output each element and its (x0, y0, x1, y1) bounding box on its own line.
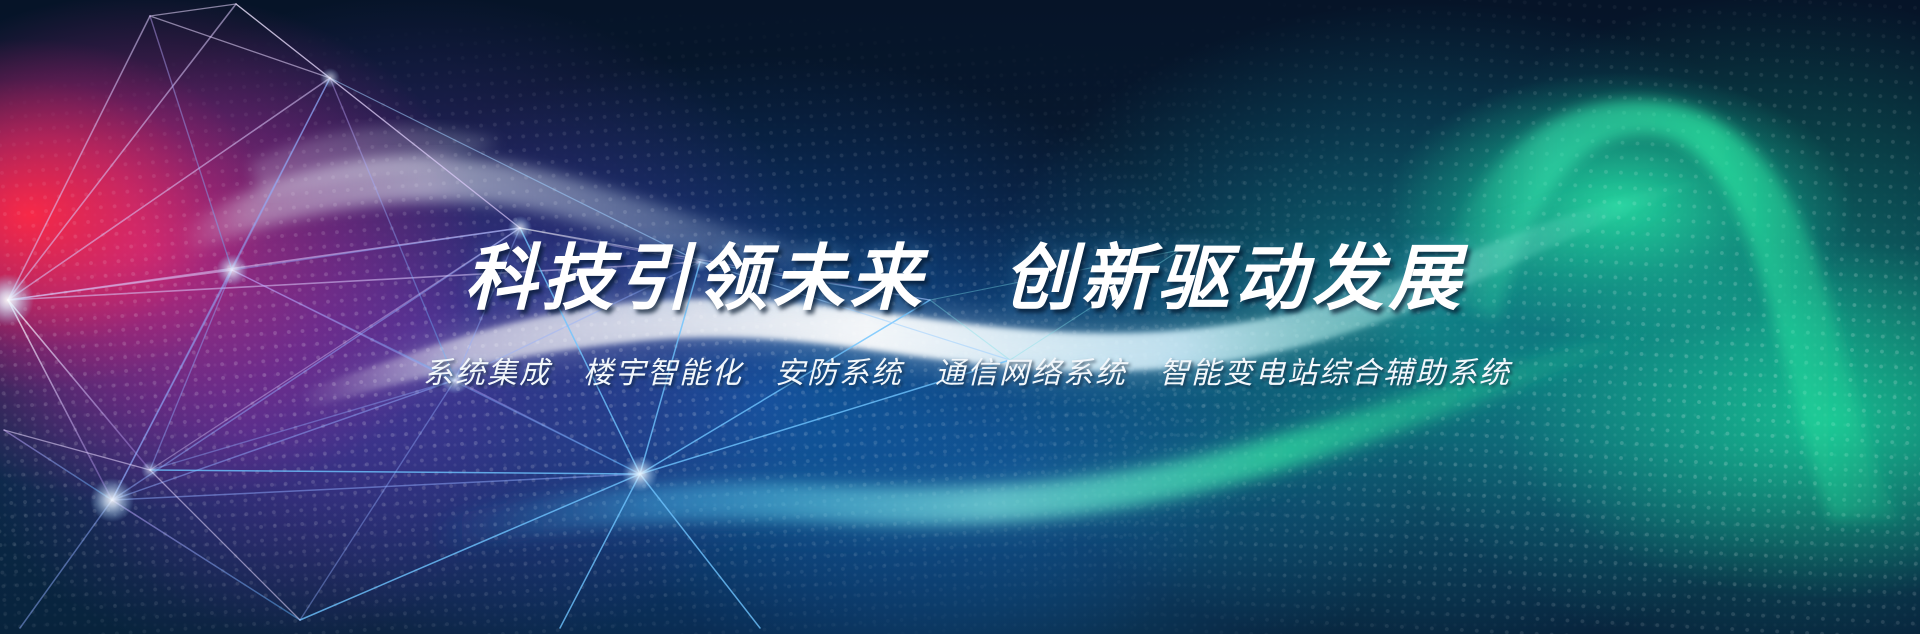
banner-headline: 科技引领未来 创新驱动发展 (454, 242, 1465, 318)
banner-hero: 科技引领未来 创新驱动发展 系统集成 楼宇智能化 安防系统 通信网络系统 智能变… (0, 0, 1920, 634)
banner-subtitle: 系统集成 楼宇智能化 安防系统 通信网络系统 智能变电站综合辅助系统 (409, 348, 1511, 392)
banner-text-block: 科技引领未来 创新驱动发展 系统集成 楼宇智能化 安防系统 通信网络系统 智能变… (0, 0, 1920, 634)
